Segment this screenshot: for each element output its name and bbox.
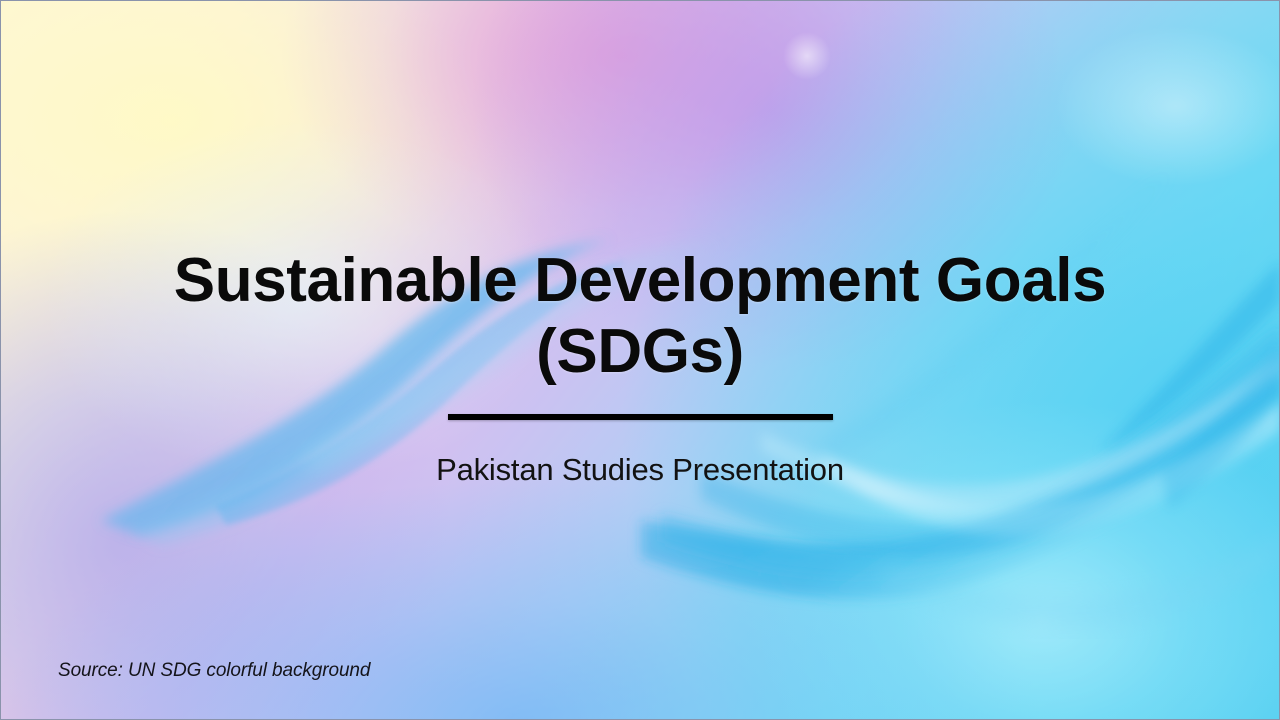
slide-content: Sustainable Development Goals (SDGs) Pak…: [1, 1, 1279, 719]
page-title: Sustainable Development Goals (SDGs): [1, 245, 1279, 387]
source-caption: Source: UN SDG colorful background: [58, 658, 370, 684]
presentation-slide: Sustainable Development Goals (SDGs) Pak…: [0, 0, 1280, 720]
slide-subtitle: Pakistan Studies Presentation: [1, 450, 1279, 490]
title-divider-rule: [448, 414, 833, 420]
